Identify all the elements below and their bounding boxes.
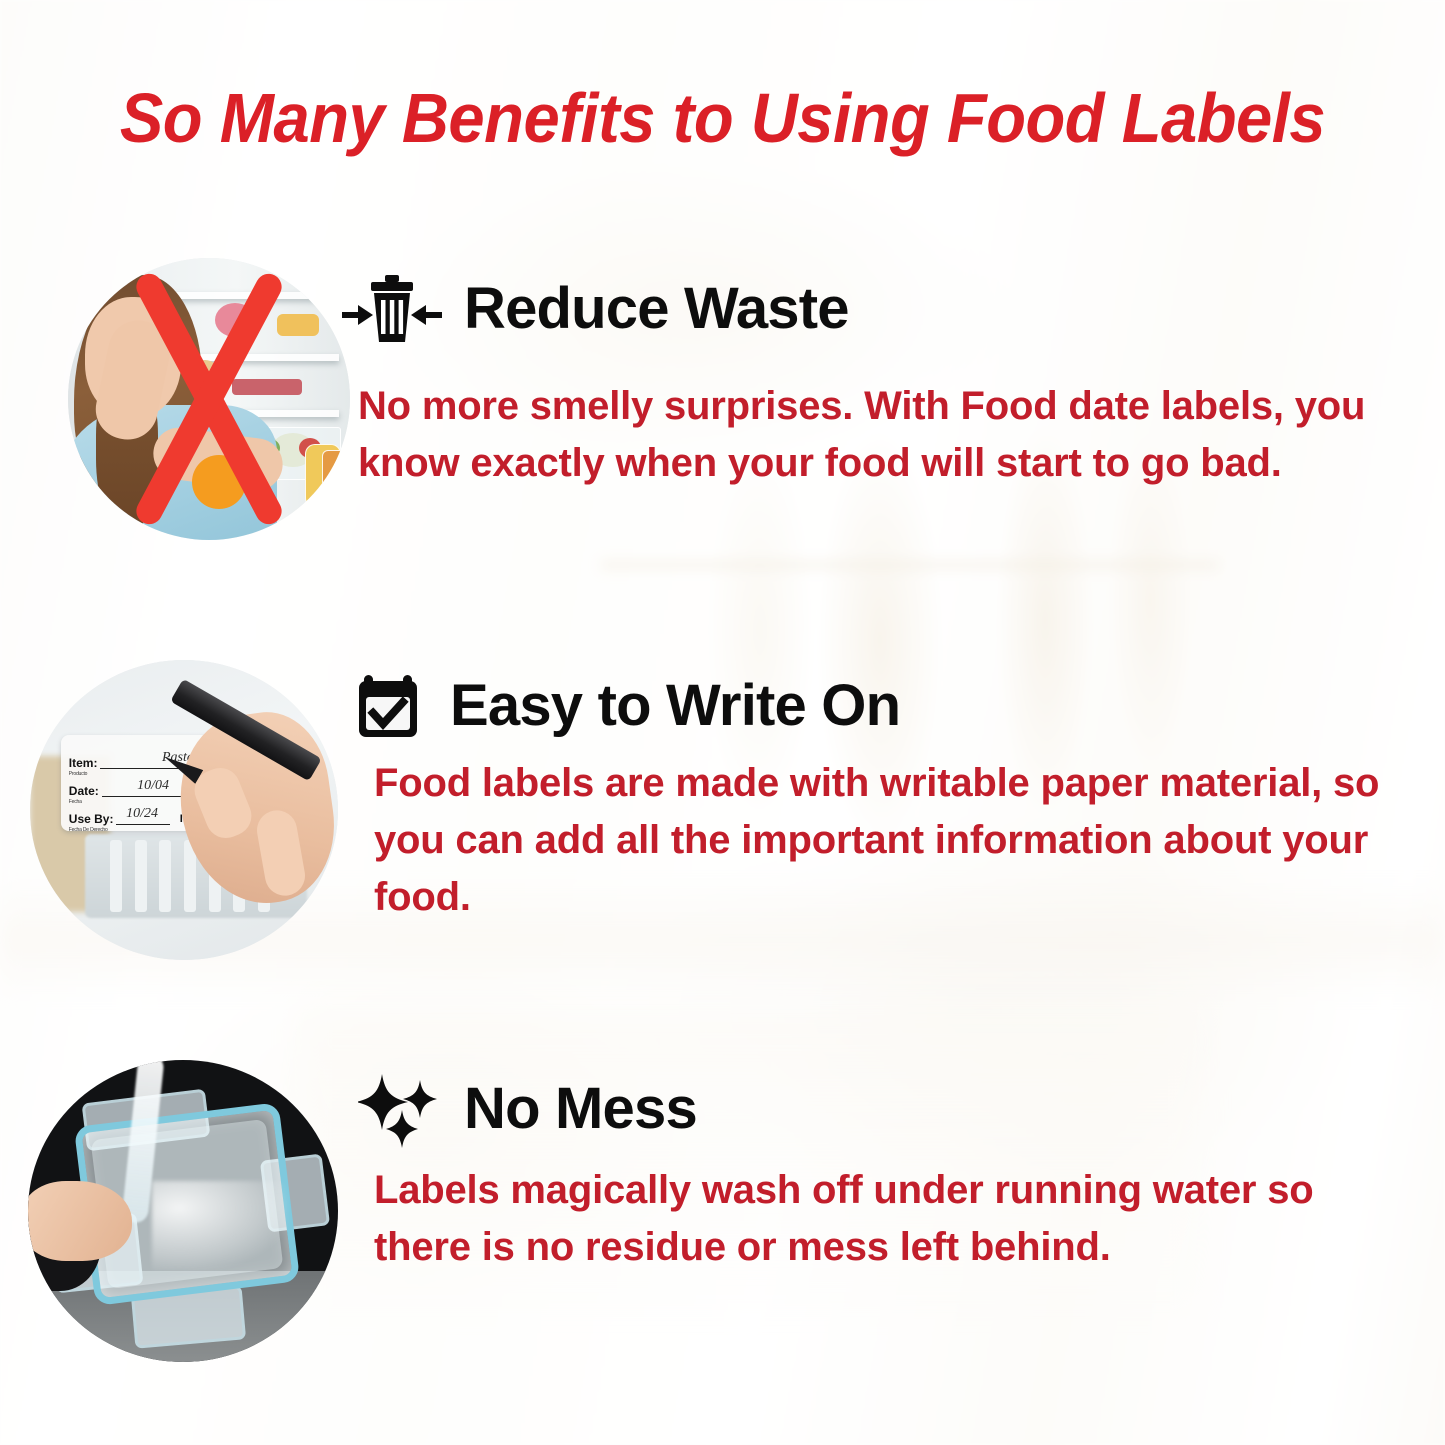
red-x-overlay <box>68 258 350 540</box>
label-key: Date: <box>69 785 99 797</box>
infographic-page: So Many Benefits to Using Food Labels <box>0 0 1445 1445</box>
calendar-check-icon <box>356 669 430 743</box>
benefit-body: Food labels are made with writable paper… <box>374 755 1386 925</box>
benefit-heading: Reduce Waste <box>464 280 849 338</box>
label-write-line: 10/24 <box>116 824 169 825</box>
label-key-sub: Fecha De Derecho <box>69 827 108 833</box>
benefit-heading: Easy to Write On <box>450 677 900 735</box>
benefit-heading-row-reduce-waste: Reduce Waste <box>340 272 849 346</box>
hand-holding-lid <box>28 1181 132 1261</box>
label-value: 10/24 <box>126 806 158 822</box>
water-splash <box>152 1181 288 1272</box>
benefit-body: Labels magically wash off under running … <box>374 1162 1362 1276</box>
benefit-heading: No Mess <box>464 1080 697 1138</box>
benefit-photo-no-mess <box>28 1060 338 1362</box>
page-title: So Many Benefits to Using Food Labels <box>51 78 1395 158</box>
benefit-photo-easy-to-write-on: Item: Producto Pasta Date: Fecha 10/04 U… <box>30 660 338 960</box>
benefit-heading-row-easy-to-write-on: Easy to Write On <box>356 669 900 743</box>
benefit-heading-row-no-mess: No Mess <box>358 1070 697 1148</box>
benefit-body: No more smelly surprises. With Food date… <box>358 378 1406 492</box>
benefit-photo-reduce-waste <box>68 258 350 540</box>
label-key: Item: <box>69 757 98 769</box>
label-key: Use By: <box>69 813 114 825</box>
trash-can-reduce-icon <box>340 272 444 346</box>
sparkles-icon <box>358 1070 444 1148</box>
label-value: 10/04 <box>137 778 169 794</box>
